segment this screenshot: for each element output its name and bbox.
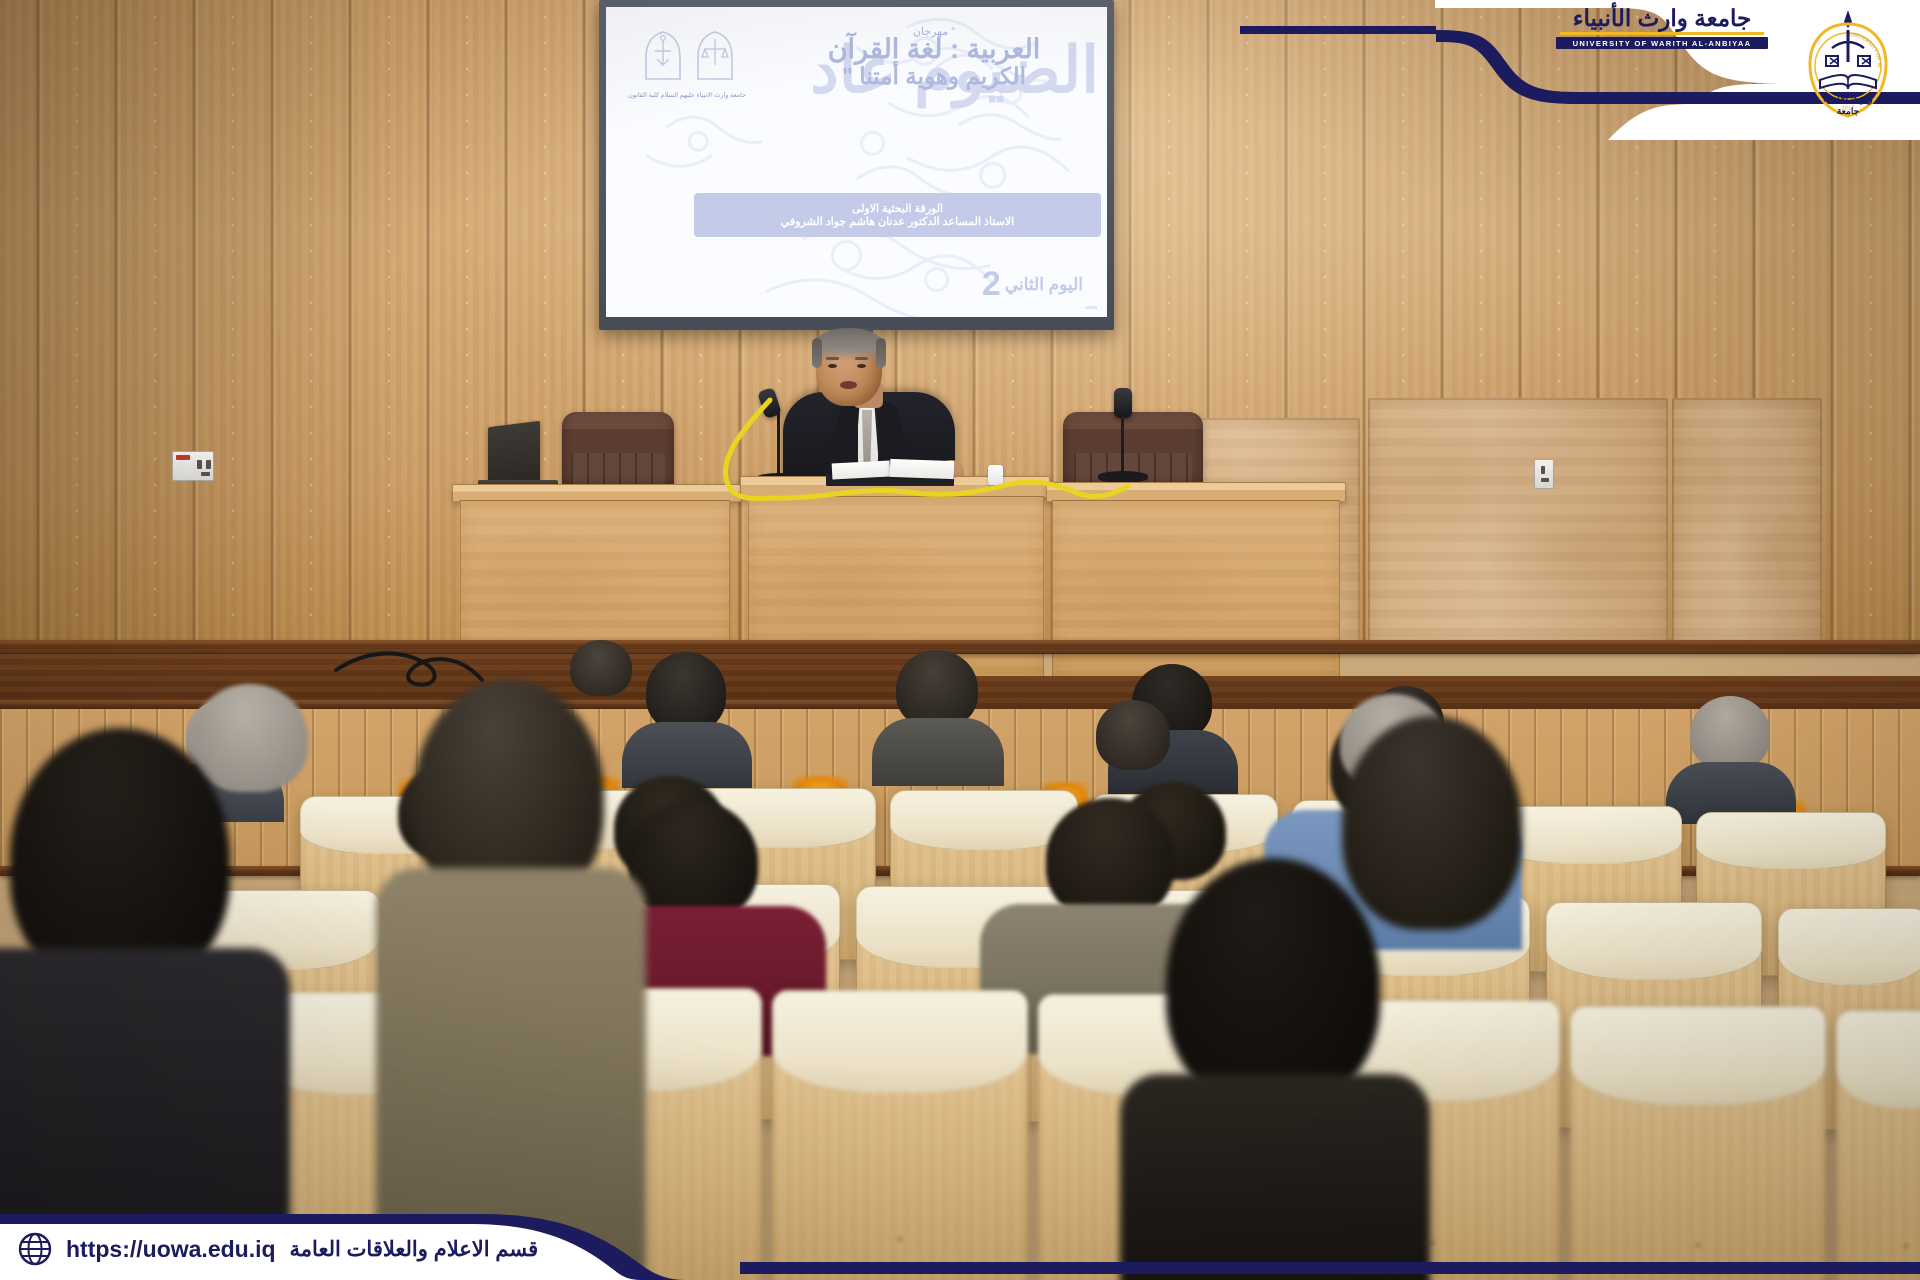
globe-icon [18, 1232, 52, 1266]
audience-head [1096, 700, 1170, 770]
university-wordmark-logo: جامعة وارث الأنبياء UNIVERSITY OF WARITH… [1556, 6, 1768, 62]
wordmark-gold-rule [1560, 32, 1764, 35]
audience-head [646, 652, 726, 732]
website-url[interactable]: https://uowa.edu.iq [66, 1236, 276, 1263]
audience-head [896, 650, 978, 728]
footer-bar: https://uowa.edu.iq قسم الاعلام والعلاقا… [0, 1218, 540, 1280]
university-wordmark-arabic: جامعة وارث الأنبياء [1556, 6, 1768, 31]
university-crest-seal: وارث الانبياء جامعة 2017 UNIVERSITY OF W… [1796, 6, 1900, 124]
audience-head [1342, 716, 1522, 930]
audience-head [1690, 696, 1770, 770]
stage-edge-trim [0, 640, 1920, 654]
department-label: قسم الاعلام والعلاقات العامة [290, 1237, 539, 1262]
audience-shoulders [872, 718, 1004, 786]
crest-year: 2017 [1841, 106, 1855, 112]
university-wordmark-english: UNIVERSITY OF WARITH AL-ANBIYAA [1556, 37, 1768, 49]
audience-head [628, 800, 758, 922]
audience-head [192, 684, 308, 792]
crest-arabic-bottom: وارث الانبياء [1823, 94, 1873, 105]
lecture-hall-photo: الضيوم عاد جامعة وارث الانبياء عليهم الس… [0, 0, 1920, 1280]
audience-head [570, 640, 632, 696]
audience-head [1166, 858, 1380, 1108]
audience-head [1046, 798, 1174, 920]
screenshot-root: الضيوم عاد جامعة وارث الانبياء عليهم الس… [0, 0, 1920, 1280]
